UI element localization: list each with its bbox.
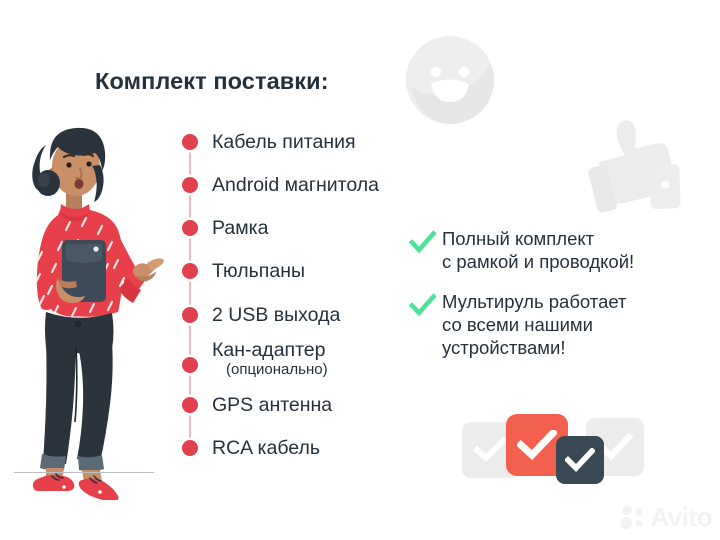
supply-list: Кабель питания Android магнитола Рамка Т…: [176, 132, 426, 462]
bullet-dot: [182, 134, 198, 150]
list-item-label: Рамка: [212, 218, 268, 239]
bullet-dot: [182, 177, 198, 193]
list-item: Рамка: [176, 218, 426, 239]
list-item: Кан-адаптер (опционально): [176, 340, 426, 378]
list-item-label: RCA кабель: [212, 438, 320, 459]
check-icon: [409, 229, 436, 256]
list-item-label: GPS антенна: [212, 395, 332, 416]
list-item: Android магнитола: [176, 175, 426, 196]
check-icon: [409, 292, 436, 319]
list-item: Кабель питания: [176, 132, 426, 153]
list-item: RCA кабель: [176, 438, 426, 459]
list-item-label-main: Кан-адаптер: [212, 339, 326, 361]
promo-banner: Комплект поставки: Кабель питания Androi…: [0, 0, 720, 540]
bullet-dot: [182, 357, 198, 373]
benefit-text: Мультируль работает со всеми нашими устр…: [442, 291, 627, 360]
list-item-label: Android магнитола: [212, 175, 379, 196]
list-item: Тюльпаны: [176, 261, 426, 282]
list-item: GPS антенна: [176, 395, 426, 416]
bullet-dot: [182, 263, 198, 279]
benefit-item: Полный комплект с рамкой и проводкой!: [409, 228, 699, 274]
list-item-sublabel: (опционально): [226, 362, 328, 378]
checkbox-card-dark: [556, 436, 604, 484]
list-item-label: 2 USB выхода: [212, 305, 340, 326]
avito-watermark: Avito: [620, 504, 712, 530]
bullet-dot: [182, 220, 198, 236]
benefits-list: Полный комплект с рамкой и проводкой! Му…: [409, 228, 699, 377]
list-item-label: Кабель питания: [212, 132, 356, 153]
bullet-dot: [182, 397, 198, 413]
avito-wordmark: Avito: [650, 504, 712, 530]
page-title: Комплект поставки:: [95, 68, 329, 95]
list-item: 2 USB выхода: [176, 305, 426, 326]
smiley-face-icon: [404, 34, 496, 126]
woman-pointing-illustration: [8, 110, 183, 500]
bullet-dot: [182, 440, 198, 456]
bullet-dot: [182, 307, 198, 323]
floor-line: [14, 472, 154, 473]
avito-logo-icon: [620, 504, 646, 530]
thumbs-up-icon: [576, 114, 688, 218]
list-item-label: Тюльпаны: [212, 261, 305, 282]
checkbox-cluster: [462, 408, 642, 488]
benefit-item: Мультируль работает со всеми нашими устр…: [409, 291, 699, 360]
list-item-label: Кан-адаптер (опционально): [212, 340, 328, 378]
benefit-text: Полный комплект с рамкой и проводкой!: [442, 228, 634, 274]
